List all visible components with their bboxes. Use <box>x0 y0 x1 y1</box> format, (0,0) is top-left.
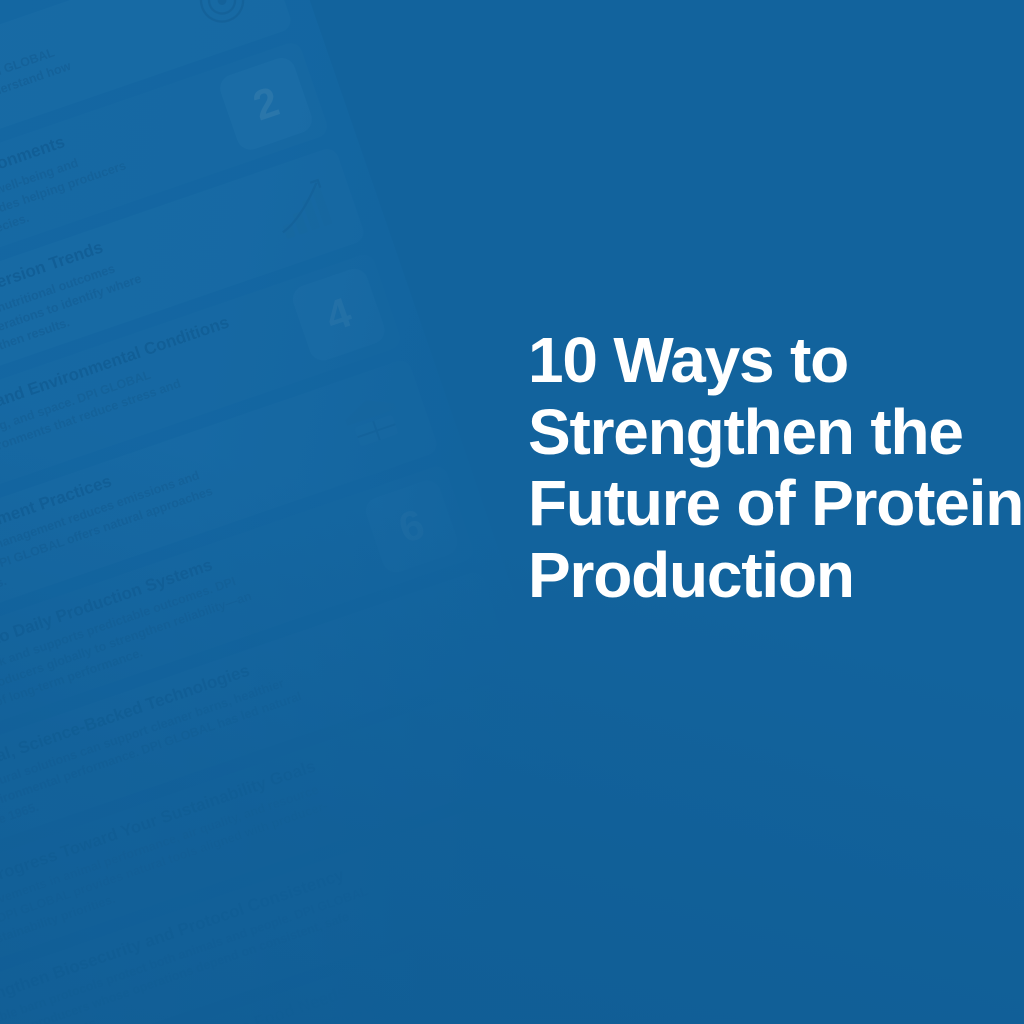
headline-line-3: Future of Protein <box>528 468 998 540</box>
slide-canvas: 10 Ways to Strengthen the Future of Prot… <box>0 0 1024 1024</box>
page-title: 10 Ways to Strengthen the Future of Prot… <box>528 325 998 612</box>
headline-line-4: Production <box>528 540 998 612</box>
headline-line-1: 10 Ways to <box>528 325 998 397</box>
headline-line-2: Strengthen the <box>528 397 998 469</box>
